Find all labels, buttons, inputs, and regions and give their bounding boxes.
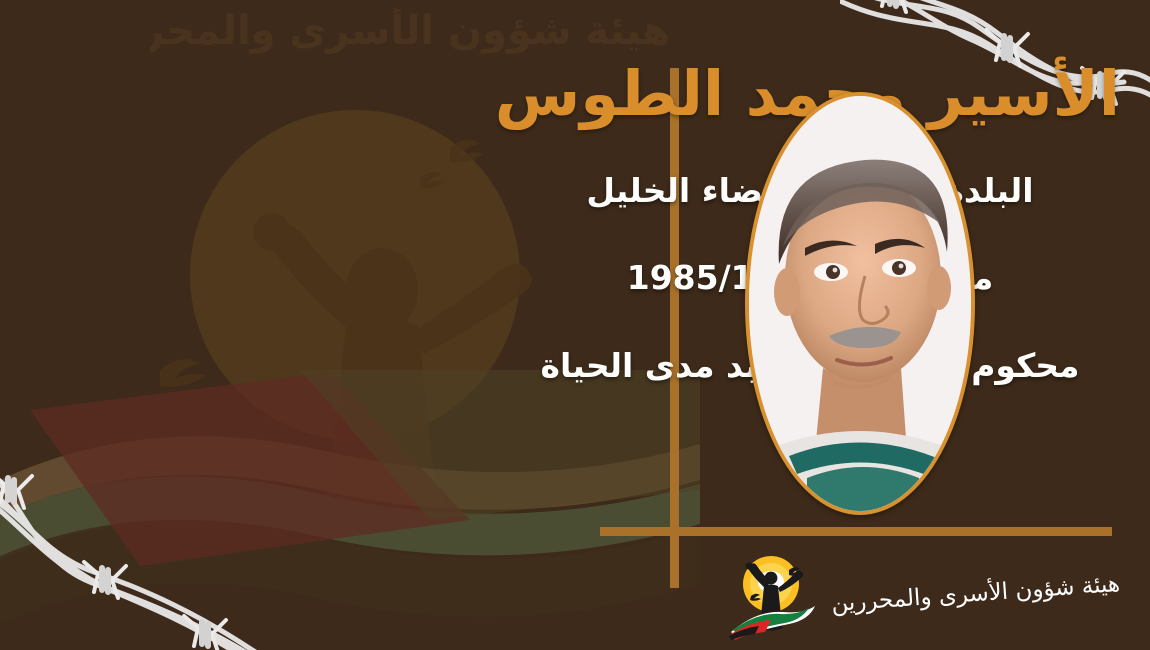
footer-branding: هيئة شؤون الأسرى والمحررين	[721, 548, 1120, 640]
portrait-photo	[749, 96, 971, 511]
organization-name: هيئة شؤون الأسرى والمحررين	[830, 571, 1120, 617]
freed-prisoner-sun-flag-logo-icon	[721, 548, 817, 640]
horizontal-divider	[600, 527, 1112, 536]
prisoner-portrait	[745, 92, 975, 515]
barbed-wire-bottom-left-icon	[0, 440, 310, 650]
watermark-sun-circle	[190, 110, 520, 440]
prisoner-poster-card: هيئة شؤون الأسرى والمحررين	[0, 0, 1150, 650]
